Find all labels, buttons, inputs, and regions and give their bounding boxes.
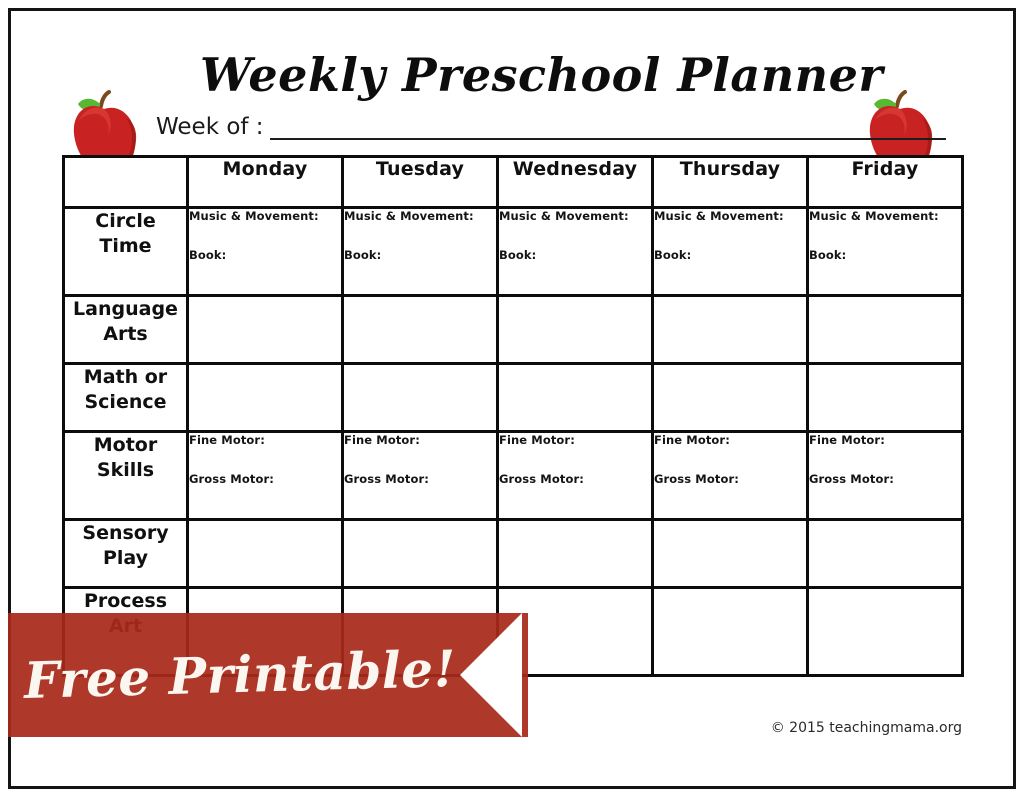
week-of-label: Week of : <box>156 114 270 140</box>
subline-book: Book: <box>654 248 806 262</box>
row-label-circle-time: Circle Time <box>64 208 188 296</box>
row-label-sensory-play: Sensory Play <box>64 520 188 588</box>
subline-gross-motor: Gross Motor: <box>809 472 961 486</box>
cell-motor-skills-monday[interactable]: Fine Motor: Gross Motor: <box>188 432 343 520</box>
table-row: Sensory Play <box>64 520 963 588</box>
row-label-math-or-science: Math or Science <box>64 364 188 432</box>
cell-motor-skills-tuesday[interactable]: Fine Motor: Gross Motor: <box>343 432 498 520</box>
cell-circle-time-tuesday[interactable]: Music & Movement: Book: <box>343 208 498 296</box>
cell-circle-time-wednesday[interactable]: Music & Movement: Book: <box>498 208 653 296</box>
cell-math-or-science-wednesday[interactable] <box>498 364 653 432</box>
cell-math-or-science-tuesday[interactable] <box>343 364 498 432</box>
cell-math-or-science-friday[interactable] <box>808 364 963 432</box>
planner-page: Weekly Preschool Planner Week of : Monda… <box>0 0 1024 797</box>
day-header-friday: Friday <box>808 157 963 208</box>
table-header-row: Monday Tuesday Wednesday Thursday Friday <box>64 157 963 208</box>
corner-header <box>64 157 188 208</box>
day-header-thursday: Thursday <box>653 157 808 208</box>
cell-language-arts-friday[interactable] <box>808 296 963 364</box>
day-header-monday: Monday <box>188 157 343 208</box>
row-label-line2: Play <box>65 546 186 571</box>
cell-language-arts-tuesday[interactable] <box>343 296 498 364</box>
day-header-tuesday: Tuesday <box>343 157 498 208</box>
week-of-row: Week of : <box>156 114 946 140</box>
row-label-motor-skills: Motor Skills <box>64 432 188 520</box>
row-label-line2: Skills <box>65 458 186 483</box>
subline-music-movement: Music & Movement: <box>809 209 961 223</box>
planner-header: Weekly Preschool Planner Week of : <box>60 40 964 155</box>
cell-sensory-play-monday[interactable] <box>188 520 343 588</box>
table-row: Motor Skills Fine Motor: Gross Motor: Fi… <box>64 432 963 520</box>
cell-sensory-play-thursday[interactable] <box>653 520 808 588</box>
cell-motor-skills-thursday[interactable]: Fine Motor: Gross Motor: <box>653 432 808 520</box>
subline-music-movement: Music & Movement: <box>344 209 496 223</box>
cell-circle-time-thursday[interactable]: Music & Movement: Book: <box>653 208 808 296</box>
subline-music-movement: Music & Movement: <box>189 209 341 223</box>
table-row: Language Arts <box>64 296 963 364</box>
row-label-line2: Science <box>65 390 186 415</box>
page-title: Weekly Preschool Planner <box>200 48 840 102</box>
subline-fine-motor: Fine Motor: <box>499 433 651 447</box>
subline-gross-motor: Gross Motor: <box>654 472 806 486</box>
cell-math-or-science-thursday[interactable] <box>653 364 808 432</box>
row-label-line2: Arts <box>65 322 186 347</box>
cell-circle-time-friday[interactable]: Music & Movement: Book: <box>808 208 963 296</box>
cell-sensory-play-tuesday[interactable] <box>343 520 498 588</box>
row-label-line2: Time <box>65 234 186 259</box>
row-label-language-arts: Language Arts <box>64 296 188 364</box>
row-label-line1: Language <box>65 297 186 322</box>
subline-gross-motor: Gross Motor: <box>344 472 496 486</box>
subline-gross-motor: Gross Motor: <box>189 472 341 486</box>
subline-music-movement: Music & Movement: <box>654 209 806 223</box>
cell-math-or-science-monday[interactable] <box>188 364 343 432</box>
subline-book: Book: <box>344 248 496 262</box>
row-label-line1: Circle <box>65 209 186 234</box>
subline-fine-motor: Fine Motor: <box>344 433 496 447</box>
week-of-input[interactable] <box>270 118 946 140</box>
cell-language-arts-wednesday[interactable] <box>498 296 653 364</box>
row-label-line1: Sensory <box>65 521 186 546</box>
cell-language-arts-monday[interactable] <box>188 296 343 364</box>
subline-music-movement: Music & Movement: <box>499 209 651 223</box>
row-label-line1: Motor <box>65 433 186 458</box>
row-label-line1: Math or <box>65 365 186 390</box>
copyright-text: © 2015 teachingmama.org <box>771 719 962 737</box>
subline-fine-motor: Fine Motor: <box>189 433 341 447</box>
subline-fine-motor: Fine Motor: <box>654 433 806 447</box>
cell-language-arts-thursday[interactable] <box>653 296 808 364</box>
cell-process-art-thursday[interactable] <box>653 588 808 676</box>
cell-sensory-play-wednesday[interactable] <box>498 520 653 588</box>
cell-circle-time-monday[interactable]: Music & Movement: Book: <box>188 208 343 296</box>
cell-motor-skills-wednesday[interactable]: Fine Motor: Gross Motor: <box>498 432 653 520</box>
row-label-line1: Process <box>65 589 186 614</box>
planner-table: Monday Tuesday Wednesday Thursday Friday… <box>62 155 964 677</box>
subline-book: Book: <box>809 248 961 262</box>
subline-gross-motor: Gross Motor: <box>499 472 651 486</box>
subline-book: Book: <box>499 248 651 262</box>
cell-motor-skills-friday[interactable]: Fine Motor: Gross Motor: <box>808 432 963 520</box>
ribbon-label: Free Printable! <box>23 623 455 727</box>
cell-process-art-friday[interactable] <box>808 588 963 676</box>
planner-sheet: Weekly Preschool Planner Week of : Monda… <box>0 0 1024 797</box>
table-row: Math or Science <box>64 364 963 432</box>
subline-fine-motor: Fine Motor: <box>809 433 961 447</box>
cell-sensory-play-friday[interactable] <box>808 520 963 588</box>
table-row: Circle Time Music & Movement: Book: Musi… <box>64 208 963 296</box>
day-header-wednesday: Wednesday <box>498 157 653 208</box>
subline-book: Book: <box>189 248 341 262</box>
